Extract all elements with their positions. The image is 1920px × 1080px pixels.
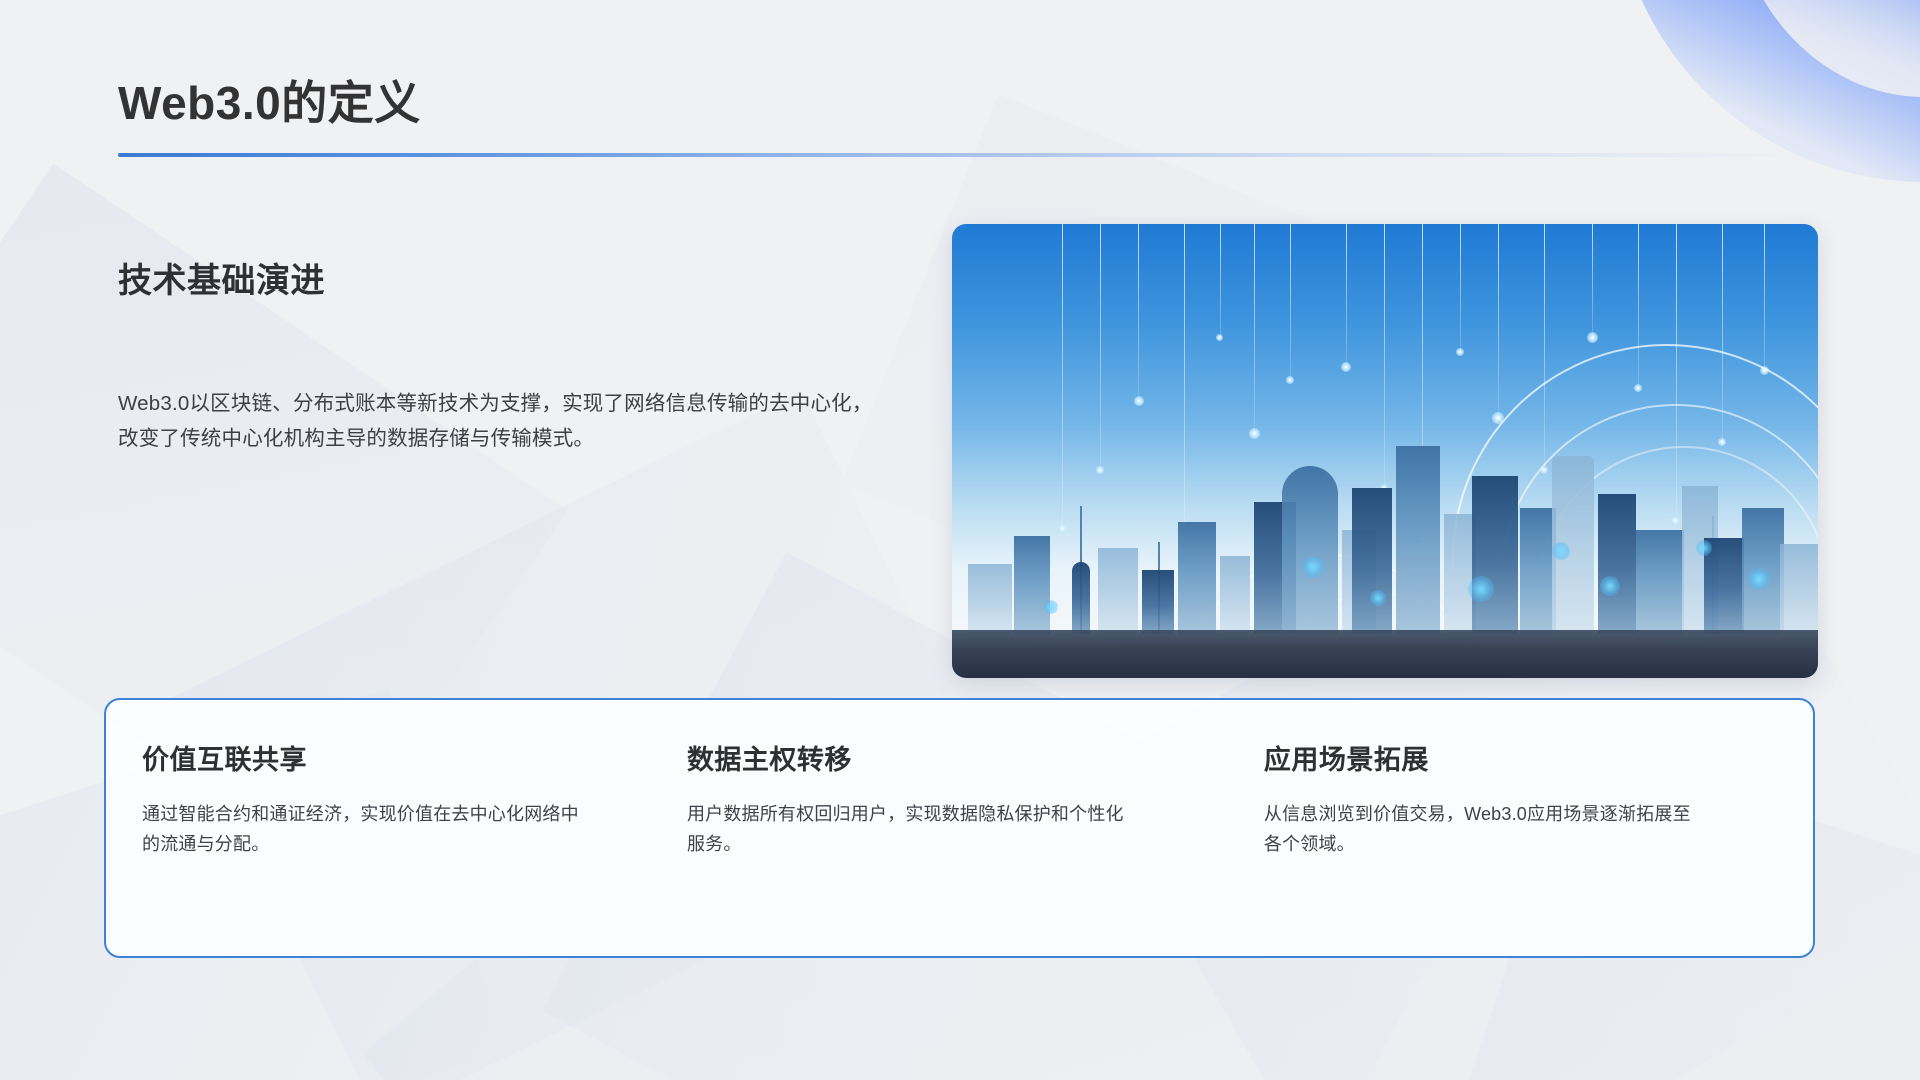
network-line (1062, 224, 1063, 534)
network-line (1100, 224, 1101, 474)
glow-node (1600, 576, 1620, 596)
feature-title: 价值互联共享 (142, 738, 641, 777)
network-line (1592, 224, 1593, 342)
slide-header: Web3.0的定义 (118, 78, 1818, 157)
network-node (1286, 376, 1294, 384)
building (1352, 488, 1392, 634)
network-node (1341, 362, 1351, 372)
glow-node (1370, 590, 1386, 606)
building (1780, 544, 1818, 634)
glow-node (1696, 540, 1712, 556)
network-line (1346, 224, 1347, 370)
feature-description: 从信息浏览到价值交易，Web3.0应用场景逐渐拓展至各个领域。 (1264, 799, 1704, 859)
feature-item-2: 数据主权转移 用户数据所有权回归用户，实现数据隐私保护和个性化服务。 (675, 738, 1244, 859)
feature-description: 通过智能合约和通证经济，实现价值在去中心化网络中的流通与分配。 (142, 799, 582, 859)
network-node (1587, 332, 1598, 343)
building (1178, 522, 1216, 634)
ground-strip (952, 630, 1818, 678)
section-heading: 技术基础演进 (118, 253, 898, 302)
glow-node (1748, 568, 1770, 590)
city-skyline-image (952, 224, 1818, 678)
building (1472, 476, 1518, 634)
network-node (1134, 396, 1144, 406)
network-node (1058, 524, 1067, 533)
feature-item-1: 价值互联共享 通过智能合约和通证经济，实现价值在去中心化网络中的流通与分配。 (106, 738, 675, 859)
feature-item-3: 应用场景拓展 从信息浏览到价值交易，Web3.0应用场景逐渐拓展至各个领域。 (1244, 738, 1813, 859)
network-line (1254, 224, 1255, 436)
network-node (1096, 466, 1104, 474)
feature-title: 数据主权转移 (687, 738, 1210, 777)
glow-node (1552, 542, 1570, 560)
feature-card: 价值互联共享 通过智能合约和通证经济，实现价值在去中心化网络中的流通与分配。 数… (104, 698, 1815, 958)
building (1598, 494, 1636, 634)
network-node (1249, 428, 1260, 439)
network-node (1456, 348, 1464, 356)
building (1220, 556, 1250, 634)
glow-node (1044, 600, 1058, 614)
building (1520, 508, 1556, 634)
network-line (1384, 224, 1385, 492)
glow-node (1468, 576, 1494, 602)
page-title: Web3.0的定义 (118, 78, 1818, 129)
network-line (1184, 224, 1185, 564)
building (1282, 466, 1338, 634)
network-line (1138, 224, 1139, 404)
network-line (1764, 224, 1765, 374)
title-underline-rule (118, 153, 1810, 157)
building (1142, 570, 1174, 634)
network-line (1498, 224, 1499, 420)
glow-node (1302, 556, 1324, 578)
building (1014, 536, 1050, 634)
network-line (1220, 224, 1221, 342)
building (1098, 548, 1138, 634)
building (1072, 562, 1090, 634)
intro-section: 技术基础演进 Web3.0以区块链、分布式账本等新技术为支撑，实现了网络信息传输… (118, 253, 898, 456)
feature-title: 应用场景拓展 (1264, 738, 1779, 777)
network-line (1290, 224, 1291, 384)
building (1396, 446, 1440, 634)
section-body-text: Web3.0以区块链、分布式账本等新技术为支撑，实现了网络信息传输的去中心化，改… (118, 386, 878, 456)
network-line (1460, 224, 1461, 356)
building (1636, 530, 1684, 634)
feature-description: 用户数据所有权回归用户，实现数据隐私保护和个性化服务。 (687, 799, 1127, 859)
building (968, 564, 1012, 634)
network-node (1216, 334, 1223, 341)
